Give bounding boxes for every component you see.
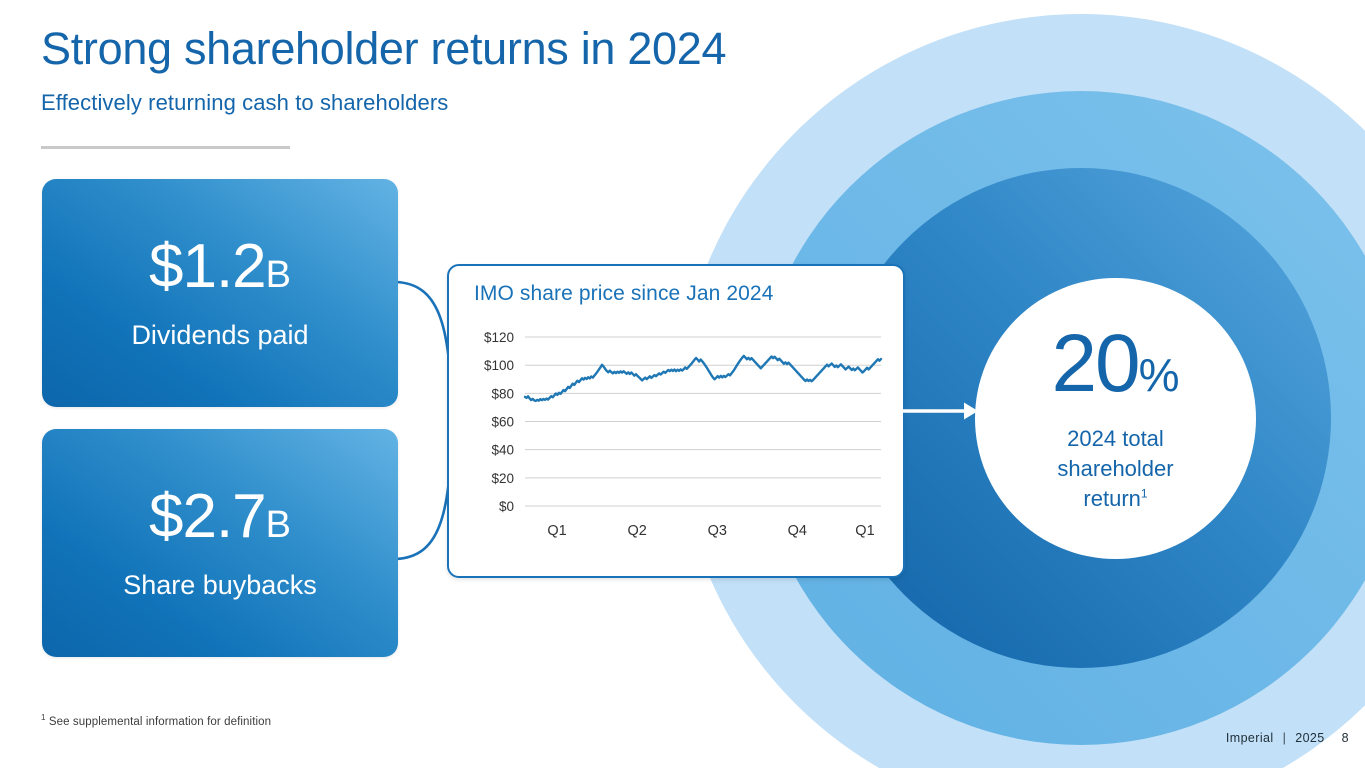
dial-caption-line2: shareholder [1057, 456, 1173, 481]
chart-x-tick-label: Q2 [627, 523, 646, 539]
stat-card-unit: B [266, 254, 291, 296]
dial-caption-line1: 2024 total [1067, 426, 1164, 451]
slide: Strong shareholder returns in 2024 Effec… [0, 0, 1365, 768]
chart-x-tick-label: Q4 [788, 523, 807, 539]
chart-y-tick-label: $60 [491, 415, 514, 430]
footnote-marker: 1 [41, 713, 46, 722]
slide-page-number: 8 [1342, 731, 1349, 745]
footnote: 1 See supplemental information for defin… [41, 713, 271, 728]
footer-separator: | [1283, 731, 1287, 745]
stat-card-value: $2.7B [149, 486, 291, 556]
total-shareholder-return-dial: 20% 2024 total shareholder return1 [975, 278, 1256, 559]
dial-footnote-marker: 1 [1141, 487, 1148, 501]
chart-y-tick-label: $100 [484, 358, 514, 373]
stat-card-unit: B [266, 504, 291, 546]
percent-symbol: % [1139, 349, 1180, 401]
stat-card-label: Dividends paid [131, 320, 308, 350]
chart-y-tick-label: $40 [491, 443, 514, 458]
flow-arrow [898, 398, 982, 424]
stat-card-value: $1.2B [149, 236, 291, 306]
header: Strong shareholder returns in 2024 Effec… [41, 22, 821, 116]
footer-year: 2025 [1295, 731, 1324, 745]
dial-caption: 2024 total shareholder return1 [1057, 424, 1173, 514]
dial-caption-line3: return [1083, 486, 1140, 511]
footnote-text: See supplemental information for definit… [49, 716, 271, 728]
chart-x-tick-label: Q1 [547, 523, 566, 539]
dial-number: 20 [1051, 318, 1138, 409]
stat-card-amount: $1.2 [149, 232, 266, 301]
title-divider [41, 146, 290, 149]
slide-footer: Imperial | 2025 8 [1226, 731, 1349, 745]
chart-x-tick-label: Q3 [708, 523, 727, 539]
chart-y-tick-label: $0 [499, 499, 514, 514]
page-title: Strong shareholder returns in 2024 [41, 22, 821, 76]
footer-brand: Imperial [1226, 731, 1274, 745]
chart-line-series [525, 356, 881, 401]
stat-card-buybacks[interactable]: $2.7B Share buybacks [42, 429, 398, 657]
chart-x-tick-label: Q1 [855, 523, 874, 539]
chart-plot-area: $0$20$40$60$80$100$120Q1Q2Q3Q4Q1 [449, 318, 903, 570]
dial-value: 20% [1051, 323, 1179, 416]
chart-y-tick-label: $120 [484, 330, 514, 345]
stat-card-label: Share buybacks [123, 570, 317, 600]
stat-card-amount: $2.7 [149, 482, 266, 551]
share-price-chart-panel[interactable]: IMO share price since Jan 2024 $0$20$40$… [447, 264, 905, 578]
chart-title: IMO share price since Jan 2024 [474, 282, 773, 306]
chart-y-tick-label: $20 [491, 471, 514, 486]
stat-card-dividends[interactable]: $1.2B Dividends paid [42, 179, 398, 407]
chart-y-tick-label: $80 [491, 386, 514, 401]
page-subtitle: Effectively returning cash to shareholde… [41, 90, 821, 116]
